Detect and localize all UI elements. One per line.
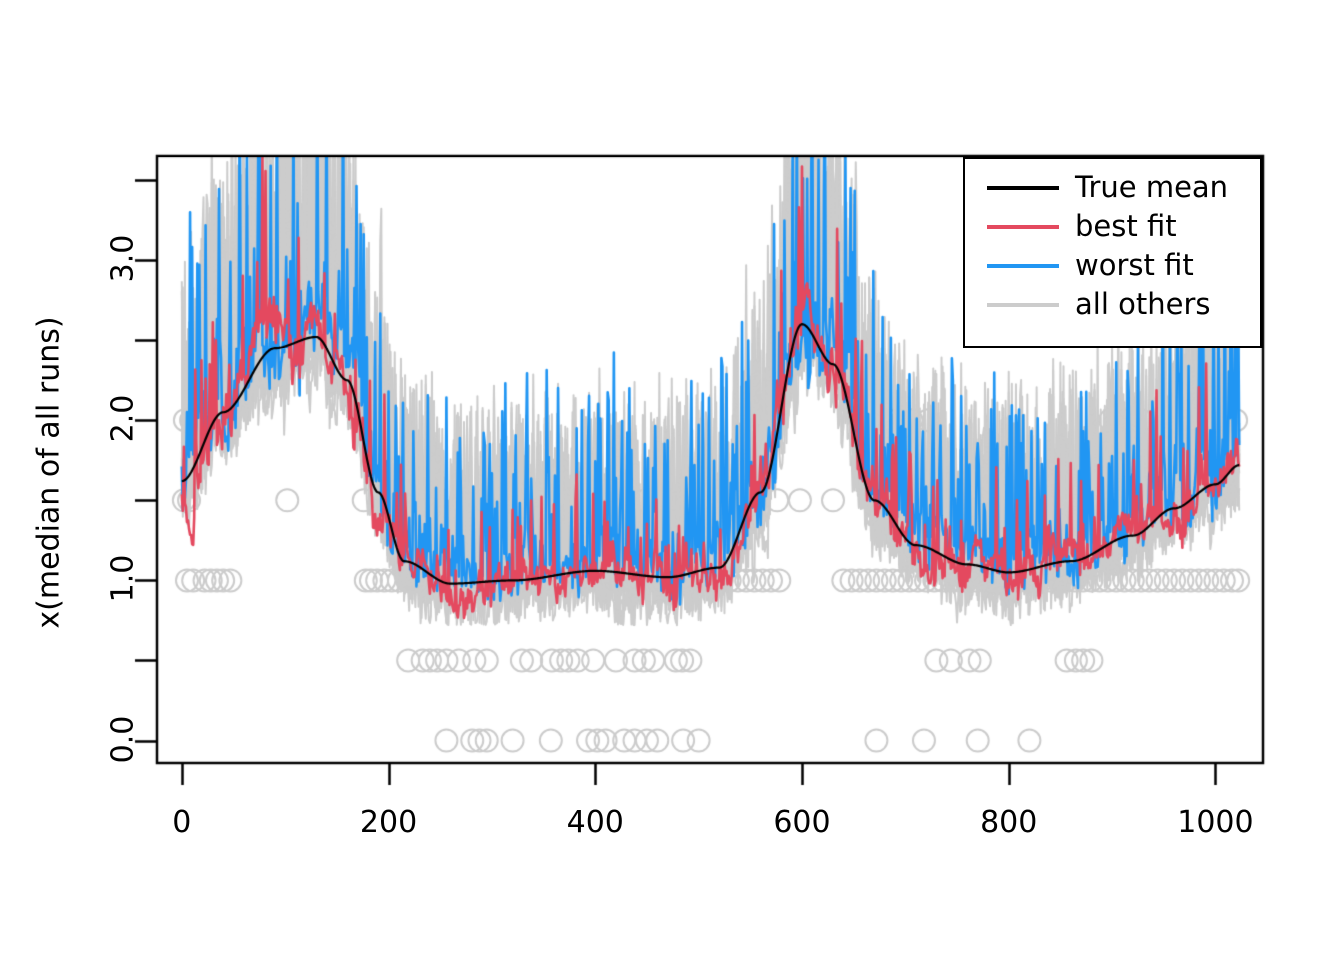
legend-item-true-mean[interactable]: True mean: [965, 168, 1260, 207]
legend-item-worst-fit[interactable]: worst fit: [965, 246, 1260, 285]
y-tick-label: 3.0: [106, 219, 141, 299]
x-tick-label: 800: [939, 805, 1079, 840]
y-tick-label: 2.0: [106, 379, 141, 459]
y-tick-label: 0.0: [106, 699, 141, 779]
legend-item-best-fit[interactable]: best fit: [965, 207, 1260, 246]
y-axis-label: x(median of all runs): [32, 193, 67, 753]
x-tick-label: 600: [732, 805, 872, 840]
legend-swatch-all-others: [987, 303, 1059, 307]
legend-label-best-fit: best fit: [1075, 212, 1177, 241]
legend-swatch-best-fit: [987, 225, 1059, 229]
legend-label-true-mean: True mean: [1075, 173, 1228, 202]
legend-label-all-others: all others: [1075, 290, 1210, 319]
chart-figure: smash x(median of all runs) 0.01.02.03.0…: [0, 0, 1344, 960]
legend-swatch-true-mean: [987, 186, 1059, 190]
x-tick-label: 400: [525, 805, 665, 840]
legend-swatch-worst-fit: [987, 264, 1059, 268]
legend-item-all-others[interactable]: all others: [965, 285, 1260, 324]
legend-label-worst-fit: worst fit: [1075, 251, 1194, 280]
legend: True mean best fit worst fit all others: [963, 157, 1262, 348]
y-tick-label: 1.0: [106, 539, 141, 619]
x-tick-label: 1000: [1145, 805, 1285, 840]
x-tick-label: 0: [112, 805, 252, 840]
x-tick-label: 200: [319, 805, 459, 840]
